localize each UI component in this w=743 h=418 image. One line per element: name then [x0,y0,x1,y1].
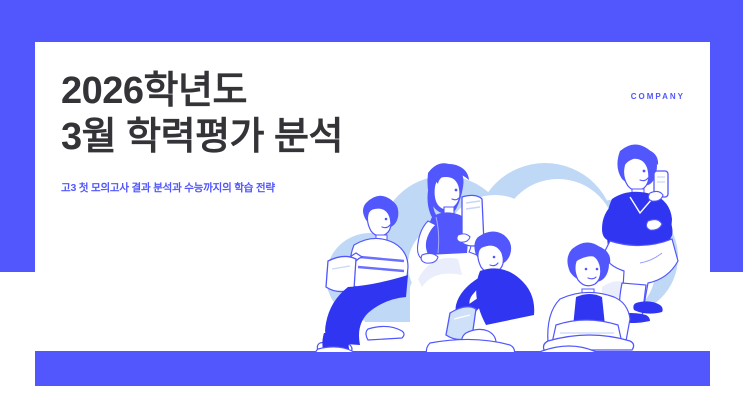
company-label: COMPANY [631,92,685,101]
title-block: 2026학년도 3월 학력평가 분석 고3 첫 모의고사 결과 분석과 수능까지… [61,68,481,195]
card-floor-strip [35,351,710,352]
figure-reclining-with-laptop [317,196,408,352]
page-title-line-1: 2026학년도 [61,68,481,116]
page-subtitle: 고3 첫 모의고사 결과 분석과 수능까지의 학습 전략 [61,180,481,195]
background-blue-bottom-band [35,351,710,386]
page-title-line-2: 3월 학력평가 분석 [61,114,481,162]
content-card: 2026학년도 3월 학력평가 분석 고3 첫 모의고사 결과 분석과 수능까지… [35,42,710,352]
slide-root: 2026학년도 3월 학력평가 분석 고3 첫 모의고사 결과 분석과 수능까지… [0,0,743,418]
